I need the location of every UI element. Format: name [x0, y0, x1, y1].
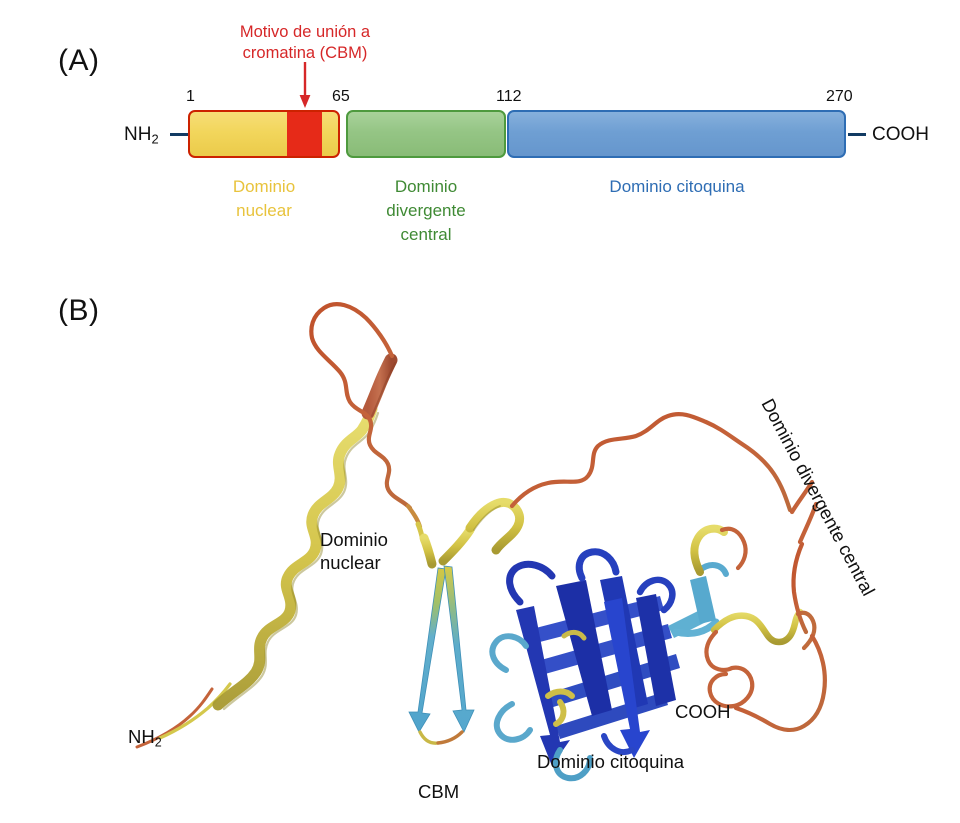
cbm-callout-line1: Motivo de unión a: [175, 22, 435, 43]
label-cbm: CBM: [418, 780, 459, 803]
cbm-callout-line2: cromatina (CBM): [175, 43, 435, 64]
domain-caption-divergent-line1: Dominio: [346, 175, 506, 199]
panel-b-structure: (B): [0, 280, 960, 823]
panel-a-letter: (A): [58, 44, 100, 78]
domain-caption-divergent-line3: central: [346, 223, 506, 247]
domain-box-nuclear: [188, 110, 340, 158]
label-dominio-nuclear: Dominio nuclear: [320, 528, 388, 574]
label-dominio-nuclear-line1: Dominio: [320, 528, 388, 551]
cytokine-beta-sandwich: [492, 552, 726, 779]
tick-label-1: 1: [186, 88, 195, 106]
label-dominio-nuclear-line2: nuclear: [320, 551, 388, 574]
label-c-terminus: COOH: [675, 700, 731, 723]
panel-a-n-terminus-label: NH2: [124, 124, 159, 147]
tick-label-112: 112: [496, 88, 522, 106]
cbm-callout-text: Motivo de unión a cromatina (CBM): [175, 22, 435, 64]
domain-caption-cytokine: Dominio citoquina: [557, 175, 797, 199]
cbm-block: [287, 110, 322, 158]
panel-a-c-terminus-label: COOH: [872, 124, 929, 146]
n-terminus-connector: [170, 133, 190, 136]
label-dominio-citoquina: Dominio citoquina: [537, 750, 684, 773]
panel-a-domain-architecture: (A) Motivo de unión a cromatina (CBM) 1 …: [0, 0, 960, 280]
domain-caption-nuclear: Dominio nuclear: [184, 175, 344, 223]
tick-label-270: 270: [826, 88, 853, 106]
domain-caption-divergent-line2: divergente: [346, 199, 506, 223]
figure-root: (A) Motivo de unión a cromatina (CBM) 1 …: [0, 0, 960, 823]
domain-box-cytokine: [507, 110, 846, 158]
domain-caption-divergent: Dominio divergente central: [346, 175, 506, 247]
tick-label-65: 65: [332, 88, 350, 106]
domain-box-divergent-central: [346, 110, 506, 158]
domain-caption-nuclear-line1: Dominio: [184, 175, 344, 199]
label-n-terminus: NH2: [128, 725, 162, 755]
domain-caption-cytokine-line1: Dominio citoquina: [557, 175, 797, 199]
domain-caption-nuclear-line2: nuclear: [184, 199, 344, 223]
cbm-arrow-icon: [295, 62, 319, 110]
c-terminus-connector: [848, 133, 866, 136]
